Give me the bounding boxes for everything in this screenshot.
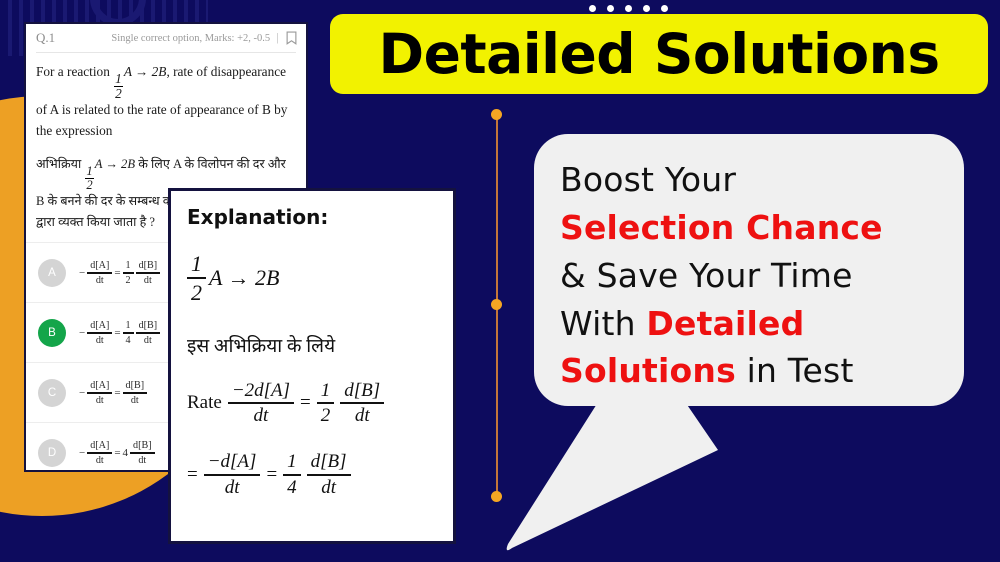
fraction-numerator: d[B]	[136, 260, 161, 274]
fraction-numerator: d[B]	[340, 380, 384, 405]
lhs-fraction: −2d[A] dt	[228, 380, 294, 428]
equation-fraction: 1 2	[187, 251, 206, 306]
fraction-numerator: d[B]	[136, 320, 161, 334]
dot-icon	[589, 5, 596, 12]
coefficient-fraction: 1 2	[317, 380, 335, 428]
option-bubble-c[interactable]: C	[38, 379, 66, 407]
q-hi-part1: अभिक्रिया	[36, 157, 81, 171]
explanation-equation-2: Rate −2d[A] dt = 1 2 d[B] dt	[187, 380, 437, 428]
question-meta: Single correct option, Marks: +2, -0.5	[111, 33, 270, 44]
fraction-denominator: dt	[87, 274, 112, 286]
rhs-fraction: d[B] dt	[130, 440, 155, 466]
lhs-fraction: d[A] dt	[87, 320, 112, 346]
lhs-fraction: d[A] dt	[87, 260, 112, 286]
q-en-reaction: A → 2B	[124, 64, 167, 79]
bubble-line-2-text: Selection Chance	[560, 208, 883, 247]
option-equation-c: − d[A] dt = d[B] dt	[79, 380, 147, 406]
fraction-numerator: d[A]	[87, 320, 112, 334]
fraction-denominator: 4	[283, 476, 301, 499]
fraction-numerator: d[B]	[130, 440, 155, 454]
equals-sign: =	[114, 447, 120, 459]
fraction-denominator: 2	[187, 279, 206, 305]
bubble-line-5: Solutions in Test	[560, 347, 938, 395]
bookmark-icon[interactable]	[285, 31, 298, 45]
rhs-fraction: d[B] dt	[123, 380, 148, 406]
explanation-equation-1: 1 2 A → 2B	[187, 251, 437, 306]
bubble-line-3-text: & Save Your Time	[560, 256, 853, 295]
explanation-equation-3: = −d[A] dt = 1 4 d[B] dt	[187, 451, 437, 499]
fraction-denominator: dt	[87, 394, 112, 406]
equation-body: A → 2B	[209, 265, 279, 291]
fraction-numerator: 1	[123, 260, 134, 274]
bubble-line-5-suffix: in Test	[736, 351, 854, 390]
fraction-numerator: d[A]	[87, 440, 112, 454]
title-banner: Detailed Solutions	[330, 14, 988, 94]
lhs-sign: −	[79, 447, 85, 459]
coefficient-whole: 4	[123, 447, 129, 459]
bubble-line-4-prefix: With	[560, 304, 646, 343]
equals-sign: =	[300, 392, 311, 414]
rate-label: Rate	[187, 392, 222, 414]
dot-icon	[625, 5, 632, 12]
q-en-part1: For a reaction	[36, 64, 110, 79]
explanation-card: Explanation: 1 2 A → 2B इस अभिक्रिया के …	[168, 188, 456, 544]
equals-sign: =	[114, 267, 120, 279]
fraction-denominator: dt	[136, 274, 161, 286]
coefficient-fraction: 1 4	[123, 320, 134, 346]
poster-canvas: Detailed Solutions Q.1 Single correct op…	[0, 0, 1000, 562]
q-en-fraction: 1 2	[114, 72, 123, 100]
equals-sign: =	[114, 387, 120, 399]
question-header: Q.1 Single correct option, Marks: +2, -0…	[26, 24, 306, 52]
equals-sign: =	[266, 464, 277, 486]
explanation-title: Explanation:	[187, 205, 437, 229]
fraction-numerator: 1	[85, 165, 93, 179]
lhs-fraction: −d[A] dt	[204, 451, 261, 499]
fraction-denominator: dt	[87, 334, 112, 346]
fraction-denominator: 2	[123, 274, 134, 286]
fraction-numerator: 1	[187, 251, 206, 279]
option-equation-b: − d[A] dt = 1 4 d[B] dt	[79, 320, 160, 346]
lhs-fraction: d[A] dt	[87, 440, 112, 466]
bubble-line-4: With Detailed	[560, 300, 938, 348]
question-number: Q.1	[36, 30, 55, 46]
fraction-numerator: d[A]	[87, 260, 112, 274]
fraction-numerator: d[B]	[307, 451, 351, 476]
lhs-fraction: d[A] dt	[87, 380, 112, 406]
fraction-numerator: −2d[A]	[228, 380, 294, 405]
fraction-numerator: d[B]	[123, 380, 148, 394]
rhs-fraction: d[B] dt	[136, 320, 161, 346]
fraction-denominator: 2	[114, 87, 123, 101]
option-equation-a: − d[A] dt = 1 2 d[B] dt	[79, 260, 160, 286]
rhs-fraction: d[B] dt	[307, 451, 351, 499]
fraction-denominator: dt	[307, 476, 351, 499]
timeline-node-icon	[491, 109, 502, 120]
dot-icon	[643, 5, 650, 12]
rhs-fraction: d[B] dt	[136, 260, 161, 286]
lhs-sign: −	[79, 327, 85, 339]
bubble-line-1-text: Boost Your	[560, 160, 736, 199]
fraction-denominator: dt	[136, 334, 161, 346]
dot-icon	[661, 5, 668, 12]
equals-sign: =	[114, 327, 120, 339]
fraction-denominator: dt	[340, 404, 384, 427]
rhs-fraction: d[B] dt	[340, 380, 384, 428]
fraction-denominator: dt	[228, 404, 294, 427]
question-text-english: For a reaction 1 2 A → 2B, rate of disap…	[36, 62, 296, 141]
dot-icon	[607, 5, 614, 12]
fraction-denominator: dt	[123, 394, 148, 406]
lhs-sign: −	[79, 387, 85, 399]
fraction-numerator: 1	[123, 320, 134, 334]
q-hi-fraction: 1 2	[85, 165, 93, 192]
fraction-numerator: −d[A]	[204, 451, 261, 476]
bubble-line-4-highlight: Detailed	[646, 304, 804, 343]
fraction-denominator: dt	[87, 454, 112, 466]
fraction-numerator: 1	[114, 72, 123, 87]
timeline-node-icon	[491, 299, 502, 310]
bubble-line-2: Selection Chance	[560, 204, 938, 252]
coefficient-fraction: 1 2	[123, 260, 134, 286]
option-bubble-a[interactable]: A	[38, 259, 66, 287]
top-dot-decoration	[589, 5, 668, 12]
speech-bubble: Boost Your Selection Chance & Save Your …	[534, 134, 964, 406]
poster-title: Detailed Solutions	[378, 27, 939, 82]
fraction-denominator: 4	[123, 334, 134, 346]
option-bubble-b[interactable]: B	[38, 319, 66, 347]
fraction-denominator: 2	[85, 179, 93, 192]
leading-equals: =	[187, 464, 198, 486]
bubble-line-3: & Save Your Time	[560, 252, 938, 300]
fraction-numerator: d[A]	[87, 380, 112, 394]
q-hi-reaction: A → 2B	[95, 157, 135, 171]
meta-separator: |	[276, 32, 279, 44]
fraction-denominator: dt	[204, 476, 261, 499]
option-equation-d: − d[A] dt = 4 d[B] dt	[79, 440, 155, 466]
coefficient-fraction: 1 4	[283, 451, 301, 499]
fraction-numerator: 1	[317, 380, 335, 405]
bubble-line-1: Boost Your	[560, 156, 938, 204]
lhs-sign: −	[79, 267, 85, 279]
bubble-line-5-highlight: Solutions	[560, 351, 736, 390]
fraction-denominator: dt	[130, 454, 155, 466]
fraction-numerator: 1	[283, 451, 301, 476]
fraction-denominator: 2	[317, 404, 335, 427]
explanation-hindi-line: इस अभिक्रिया के लिये	[187, 332, 437, 358]
option-bubble-d[interactable]: D	[38, 439, 66, 467]
